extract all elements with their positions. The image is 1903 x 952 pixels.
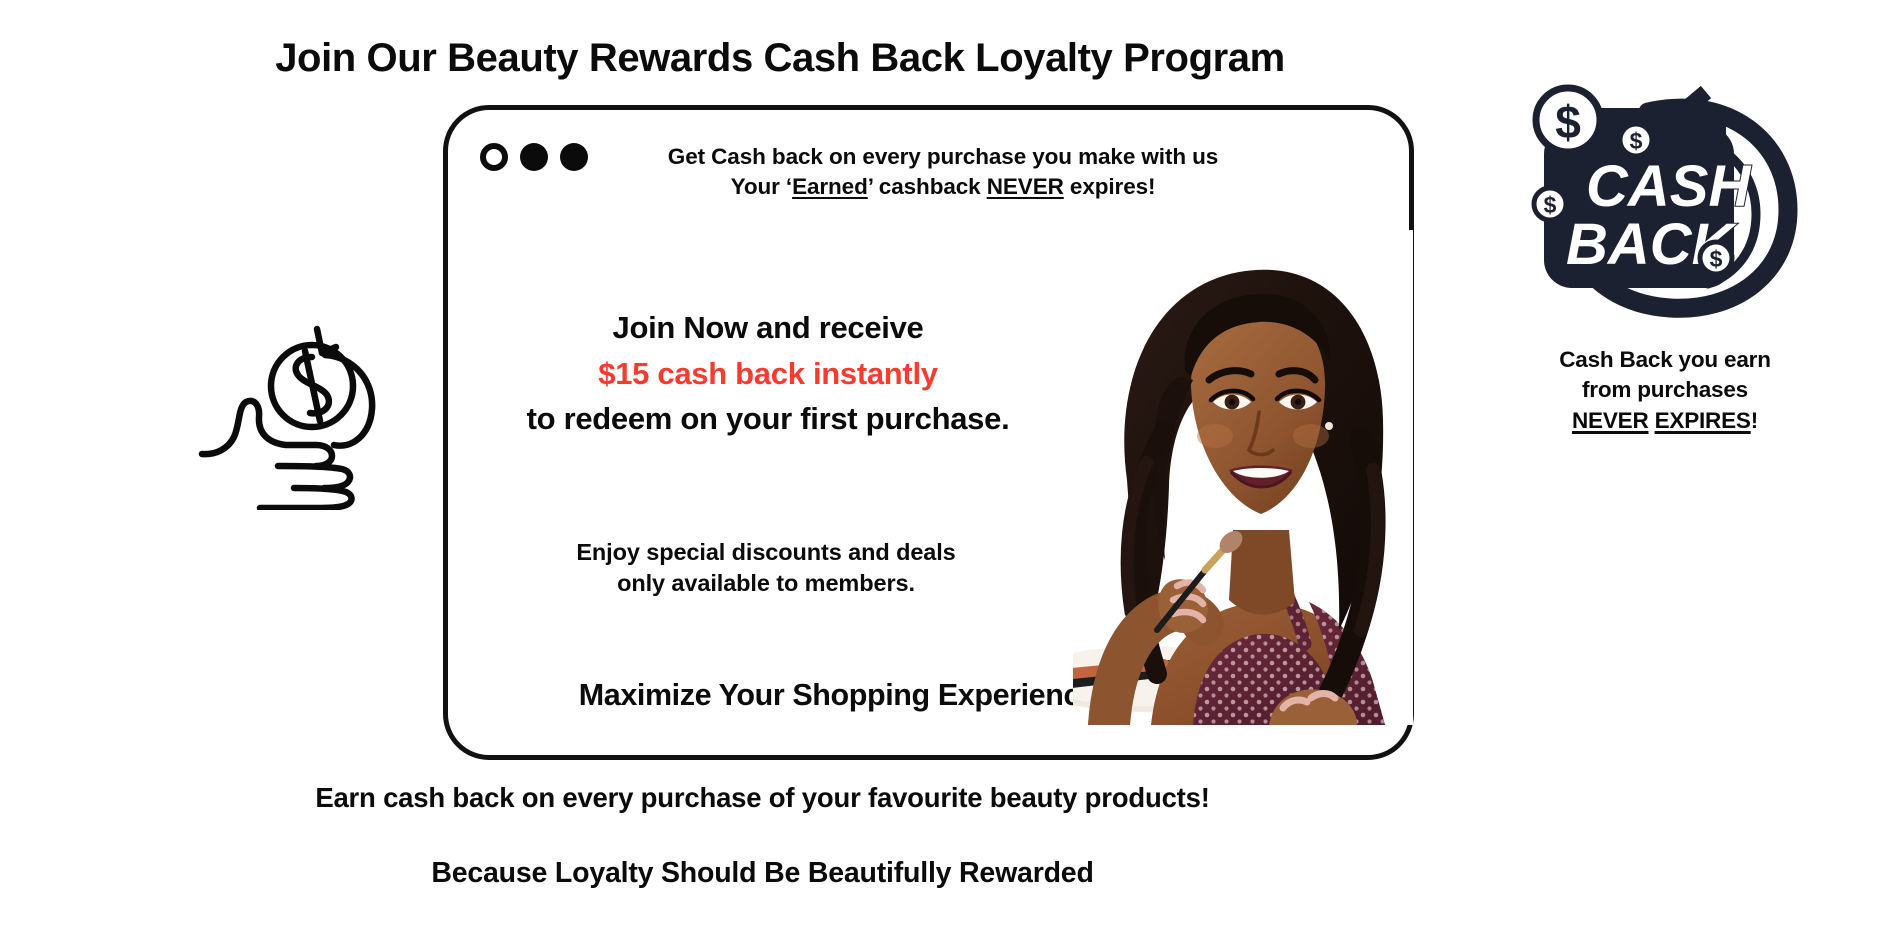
perks-line-2: only available to members. (617, 570, 915, 596)
intro-line-2-post: expires! (1064, 174, 1156, 199)
tagline-secondary: Because Loyalty Should Be Beautifully Re… (0, 857, 1903, 890)
badge-coin-small-2: $ (1544, 192, 1557, 218)
offer-text: Join Now and receive $15 cash back insta… (448, 305, 1088, 442)
intro-line-2-pre: Your ‘ (731, 174, 792, 199)
badge-coin-large: $ (1555, 96, 1581, 148)
maximize-text: Maximize Your Shopping Experience. (579, 678, 1113, 712)
hollow-dot-icon (480, 143, 508, 171)
offer-line-3: to redeem on your first purchase. (527, 401, 1010, 436)
intro-line-1: Get Cash back on every purchase you make… (668, 144, 1218, 169)
page-title: Join Our Beauty Rewards Cash Back Loyalt… (0, 36, 1560, 81)
hand-holding-dollar-coin-icon (186, 295, 394, 510)
offer-line-1: Join Now and receive (613, 310, 924, 345)
intro-text: Get Cash back on every purchase you make… (548, 142, 1338, 202)
badge-caption-expires: EXPIRES (1655, 408, 1751, 433)
offer-amount-highlight: $15 cash back instantly (448, 351, 1088, 397)
badge-caption-exclaim: ! (1751, 408, 1758, 433)
badge-word-cash: CASH (1586, 154, 1751, 219)
model-photo (1073, 230, 1413, 725)
cash-back-badge: CASH BACK $ $ $ $ (1520, 78, 1810, 318)
perks-line-1: Enjoy special discounts and deals (576, 539, 955, 565)
badge-coin-small-1: $ (1630, 128, 1643, 154)
filled-dot-icon-1 (520, 143, 548, 171)
badge-caption-never: NEVER (1572, 408, 1649, 433)
badge-caption-line-1: Cash Back you earn (1559, 347, 1771, 372)
tagline-secondary-text: Because Loyalty Should Be Beautifully Re… (431, 857, 1093, 890)
badge-coin-small-3: $ (1710, 246, 1723, 272)
intro-line-2: Your ‘Earned’ cashback NEVER expires! (548, 172, 1338, 202)
tagline-primary-text: Earn cash back on every purchase of your… (315, 782, 1209, 814)
intro-earned-underline: Earned (792, 174, 868, 199)
offer-card: Get Cash back on every purchase you make… (443, 105, 1414, 760)
poster-canvas: Join Our Beauty Rewards Cash Back Loyalt… (0, 0, 1903, 952)
intro-line-2-mid: ’ cashback (868, 174, 987, 199)
intro-never-underline: NEVER (987, 174, 1064, 199)
tagline-primary: Earn cash back on every purchase of your… (0, 782, 1903, 814)
badge-caption-line-2: from purchases (1582, 377, 1748, 402)
badge-caption: Cash Back you earn from purchases NEVER … (1505, 345, 1825, 436)
perks-text: Enjoy special discounts and deals only a… (466, 537, 1066, 600)
